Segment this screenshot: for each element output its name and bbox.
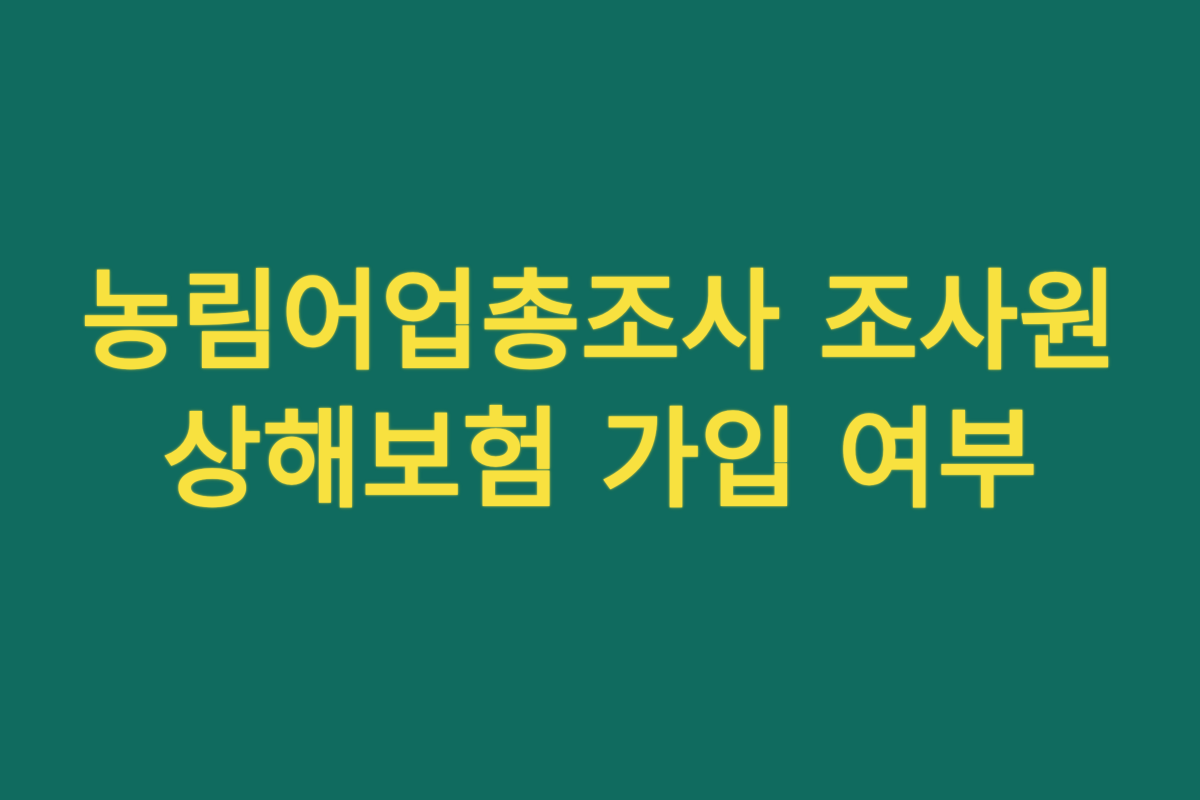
title-card: 농림어업총조사 조사원 상해보험 가입 여부: [0, 0, 1200, 800]
headline-line-1: 농림어업총조사 조사원: [81, 254, 1118, 392]
page-title: 농림어업총조사 조사원 상해보험 가입 여부: [81, 254, 1118, 530]
headline-block: 농림어업총조사 조사원 상해보험 가입 여부: [81, 181, 1118, 602]
headline-line-2: 상해보험 가입 여부: [81, 392, 1118, 530]
